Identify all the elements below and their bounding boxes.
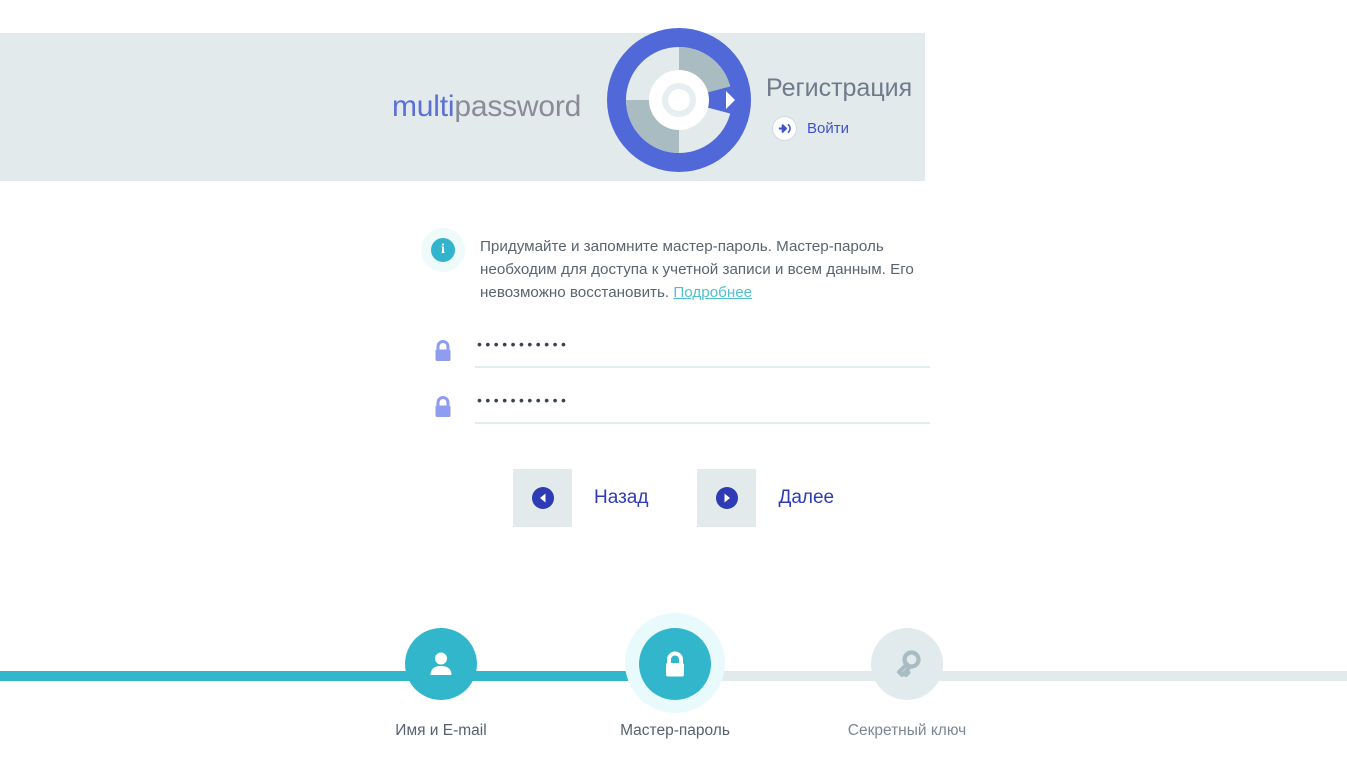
lock-icon (432, 394, 454, 420)
arrow-right-circle-icon (697, 469, 756, 527)
master-password-input[interactable] (475, 336, 930, 366)
field-underline (475, 366, 930, 368)
info-text: Придумайте и запомните мастер-пароль. Ма… (480, 228, 925, 304)
info-notice: i Придумайте и запомните мастер-пароль. … (421, 228, 925, 304)
step-name-email[interactable]: Имя и E-mail (351, 620, 531, 740)
login-link-label: Войти (807, 120, 849, 137)
info-more-link[interactable]: Подробнее (673, 284, 752, 301)
master-password-row (432, 336, 930, 368)
step-label: Секретный ключ (817, 722, 997, 740)
stepper-track-progress (0, 671, 675, 681)
brand-suffix: password (454, 90, 581, 123)
info-icon: i (421, 228, 465, 272)
page-title: Регистрация (766, 74, 912, 103)
wizard-stepper: Имя и E-mail Мастер-пароль Секретный клю (0, 620, 1347, 768)
login-link[interactable]: Войти (772, 116, 849, 141)
lock-icon (432, 338, 454, 364)
step-secret-key[interactable]: Секретный ключ (817, 620, 997, 740)
master-password-confirm-row (432, 392, 930, 424)
back-button[interactable]: Назад (513, 469, 672, 527)
multipassword-logo-icon (607, 28, 751, 172)
master-password-confirm-input[interactable] (475, 392, 930, 422)
wizard-nav-buttons: Назад Далее (513, 469, 856, 527)
back-button-label: Назад (572, 469, 672, 527)
field-underline (475, 422, 930, 424)
key-icon (871, 628, 943, 700)
lock-icon (639, 628, 711, 700)
step-label: Мастер-пароль (585, 722, 765, 740)
step-label: Имя и E-mail (351, 722, 531, 740)
next-button-label: Далее (756, 469, 856, 527)
sign-in-icon (772, 116, 797, 141)
brand-wordmark[interactable]: multipassword (392, 90, 581, 124)
registration-page: multipassword Регистрация Войти i (0, 0, 1347, 768)
arrow-left-circle-icon (513, 469, 572, 527)
brand-prefix: multi (392, 90, 454, 123)
step-master-password[interactable]: Мастер-пароль (585, 620, 765, 740)
next-button[interactable]: Далее (697, 469, 856, 527)
person-icon (405, 628, 477, 700)
